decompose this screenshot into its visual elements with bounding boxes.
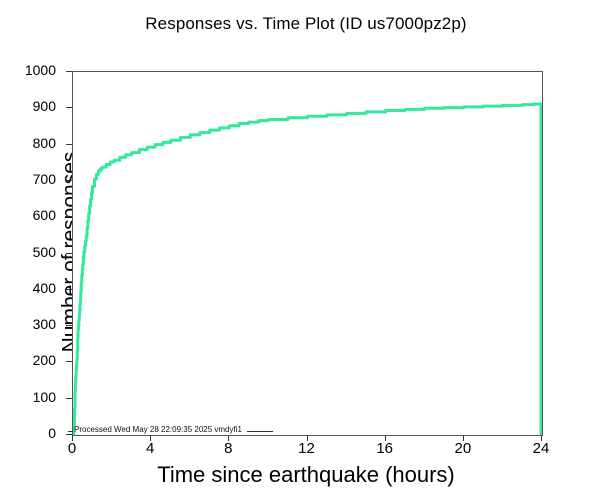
x-tick-label: 0 bbox=[52, 440, 92, 457]
x-tick-label: 20 bbox=[443, 440, 483, 457]
x-tick-label: 24 bbox=[521, 440, 561, 457]
y-tick-label: 300 bbox=[33, 316, 56, 332]
response-curve-line bbox=[73, 103, 542, 435]
x-axis-label: Time since earthquake (hours) bbox=[0, 462, 612, 488]
y-tick-label: 1000 bbox=[25, 62, 56, 78]
x-tick-label: 4 bbox=[130, 440, 170, 457]
y-tick-label: 400 bbox=[33, 280, 56, 296]
processed-stamp: Processed Wed May 28 22:09:35 2025 vmdyf… bbox=[74, 425, 242, 434]
y-tick-label: 700 bbox=[33, 171, 56, 187]
y-tick-label: 100 bbox=[33, 389, 56, 405]
y-tick-label: 800 bbox=[33, 135, 56, 151]
x-tick-label: 8 bbox=[208, 440, 248, 457]
y-tick-label: 0 bbox=[48, 425, 56, 441]
x-tick-label: 12 bbox=[287, 440, 327, 457]
y-tick-label: 600 bbox=[33, 207, 56, 223]
x-tick-label: 16 bbox=[365, 440, 405, 457]
processed-stamp-leader-left bbox=[68, 431, 73, 432]
processed-stamp-leader-right bbox=[247, 431, 273, 432]
y-tick-label: 900 bbox=[33, 98, 56, 114]
plot-canvas bbox=[73, 72, 542, 435]
responses-vs-time-chart: Responses vs. Time Plot (ID us7000pz2p) … bbox=[0, 0, 612, 504]
plot-area bbox=[72, 71, 543, 436]
y-tick-label: 500 bbox=[33, 244, 56, 260]
chart-title: Responses vs. Time Plot (ID us7000pz2p) bbox=[0, 14, 612, 34]
y-tick-label: 200 bbox=[33, 352, 56, 368]
